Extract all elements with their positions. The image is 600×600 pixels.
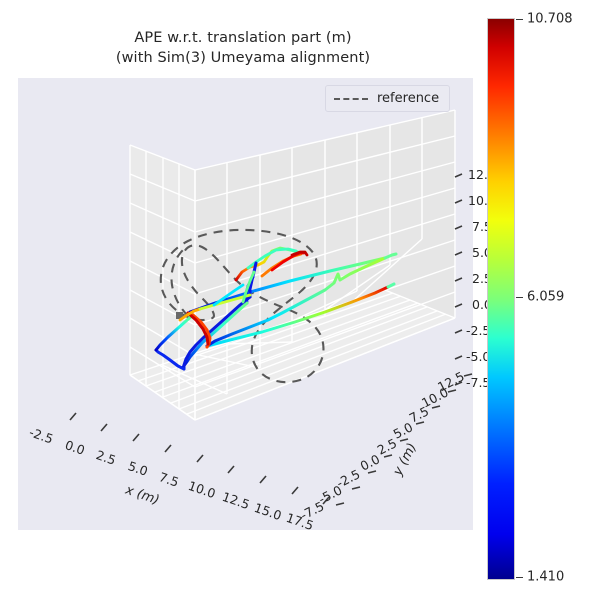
colorbar-tick-min [516, 577, 523, 578]
colorbar-label-max: 10.708 [527, 12, 573, 27]
colorbar-tick-mid [516, 297, 523, 298]
legend-dash-icon [334, 98, 368, 100]
y-axis-ticks [336, 374, 472, 505]
colorbar-label-min: 1.410 [527, 570, 564, 585]
colorbar[interactable] [487, 18, 515, 580]
colorbar-label-mid: 6.059 [527, 290, 564, 305]
colorbar-tick-max [516, 19, 523, 20]
legend[interactable]: reference [325, 85, 450, 112]
legend-label-reference: reference [377, 91, 439, 106]
z-axis-ticks [455, 174, 462, 385]
figure-canvas: APE w.r.t. translation part (m) (with Si… [0, 0, 600, 600]
